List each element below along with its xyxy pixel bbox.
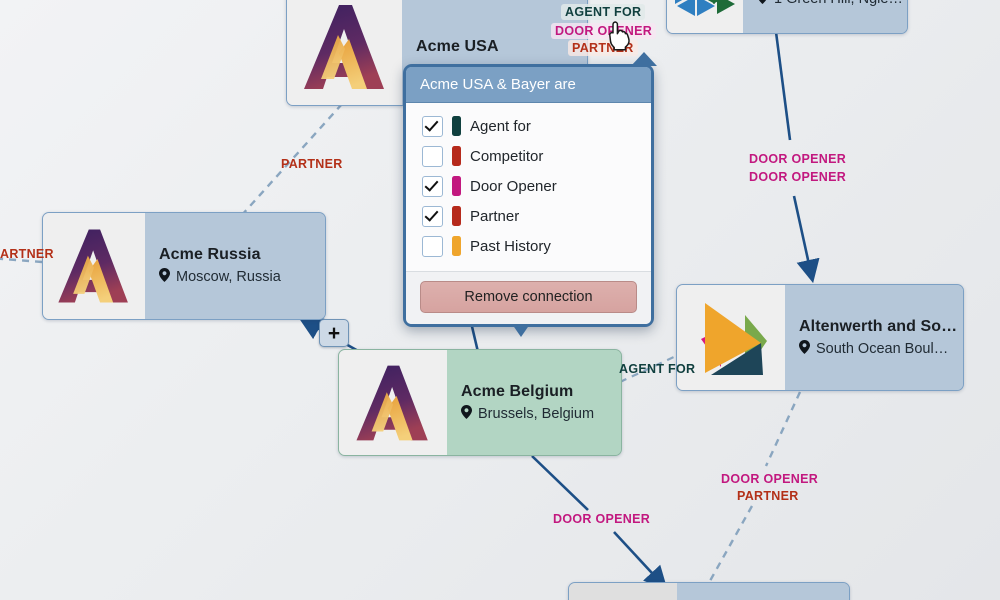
- acme-a-monogram-icon: [54, 222, 134, 310]
- acme-usa-name: Acme USA: [416, 38, 573, 56]
- option-row-competitor[interactable]: Competitor: [406, 141, 651, 171]
- bayer-info: 1 Green Hill, Ngle…: [743, 0, 908, 33]
- edge-label-agent-for-usa-bayer[interactable]: AGENT FOR: [561, 4, 645, 20]
- edge-label-door-opener-bayer-alt-2[interactable]: DOOR OPENER: [745, 169, 850, 185]
- edge-label-agent-for-belgium-alt[interactable]: AGENT FOR: [615, 361, 699, 377]
- acme-usa-logo: [287, 0, 402, 105]
- option-label-past-history: Past History: [470, 238, 551, 255]
- acme-a-monogram-icon: [352, 358, 434, 448]
- acme-russia-location: Moscow, Russia: [159, 268, 311, 286]
- acme-russia-logo: [43, 213, 145, 319]
- altenwerth-name: Altenwerth and So…: [799, 318, 957, 336]
- option-row-partner[interactable]: Partner: [406, 201, 651, 231]
- mouse-cursor-pointing-hand: [606, 20, 632, 52]
- option-row-agent-for[interactable]: Agent for: [406, 111, 651, 141]
- edge-label-door-opener-belgium-bottom[interactable]: DOOR OPENER: [549, 511, 654, 527]
- edge-label-partner-alt-bottom[interactable]: PARTNER: [733, 488, 803, 504]
- graph-canvas[interactable]: 1 Green Hill, Ngle… Acme USA: [0, 0, 1000, 600]
- acme-belgium-location: Brussels, Belgium: [461, 405, 607, 423]
- edge-label-partner-russia-left[interactable]: ARTNER: [0, 246, 58, 262]
- bottom-node-logo: [569, 583, 677, 600]
- altenwerth-info: Altenwerth and So… South Ocean Boul…: [785, 285, 964, 390]
- node-card-bottom[interactable]: [568, 582, 850, 600]
- location-pin-icon: [799, 340, 810, 358]
- acme-belgium-name: Acme Belgium: [461, 383, 607, 401]
- node-card-acme-belgium[interactable]: Acme Belgium Brussels, Belgium: [338, 349, 622, 456]
- popup-footer: Remove connection: [406, 271, 651, 324]
- color-swatch-agent-for: [452, 116, 461, 136]
- acme-belgium-info: Acme Belgium Brussels, Belgium: [447, 350, 621, 455]
- checkbox-door-opener[interactable]: [422, 176, 443, 197]
- color-swatch-door-opener: [452, 176, 461, 196]
- node-card-bayer[interactable]: 1 Green Hill, Ngle…: [666, 0, 908, 34]
- edge-label-partner-usa-russia[interactable]: PARTNER: [277, 156, 347, 172]
- altenwerth-triangles-icon: [687, 295, 775, 381]
- option-label-competitor: Competitor: [470, 148, 543, 165]
- bayer-triangles-icon: [673, 0, 737, 26]
- checkbox-competitor[interactable]: [422, 146, 443, 167]
- acme-russia-name: Acme Russia: [159, 246, 311, 264]
- option-row-door-opener[interactable]: Door Opener: [406, 171, 651, 201]
- location-pin-icon: [757, 0, 768, 8]
- checkbox-partner[interactable]: [422, 206, 443, 227]
- bayer-location: 1 Green Hill, Ngle…: [757, 0, 903, 8]
- acme-a-monogram-icon: [299, 0, 391, 95]
- color-swatch-past-history: [452, 236, 461, 256]
- popup-pointer-top: [631, 52, 657, 66]
- popup-options-list: Agent for Competitor Door Opener Partner: [406, 103, 651, 271]
- option-row-past-history[interactable]: Past History: [406, 231, 651, 261]
- altenwerth-location-text: South Ocean Boul…: [816, 341, 948, 357]
- edge-label-door-opener-usa-bayer[interactable]: DOOR OPENER: [551, 23, 656, 39]
- acme-belgium-location-text: Brussels, Belgium: [478, 406, 594, 422]
- option-label-partner: Partner: [470, 208, 519, 225]
- option-label-agent-for: Agent for: [470, 118, 531, 135]
- altenwerth-location: South Ocean Boul…: [799, 340, 957, 358]
- popup-pointer-bottom: [512, 324, 530, 337]
- checkbox-agent-for[interactable]: [422, 116, 443, 137]
- edge-label-door-opener-bayer-alt-1[interactable]: DOOR OPENER: [745, 151, 850, 167]
- edge-altenwerth-bottom[interactable]: [766, 392, 800, 466]
- node-card-acme-russia[interactable]: Acme Russia Moscow, Russia: [42, 212, 326, 320]
- edge-bayer-altenwerth-2[interactable]: [794, 196, 812, 278]
- bayer-logo: [667, 0, 743, 33]
- bayer-location-text: 1 Green Hill, Ngle…: [774, 0, 903, 7]
- edge-label-door-opener-alt-bottom[interactable]: DOOR OPENER: [717, 471, 822, 487]
- option-label-door-opener: Door Opener: [470, 178, 557, 195]
- acme-russia-location-text: Moscow, Russia: [176, 269, 281, 285]
- color-swatch-competitor: [452, 146, 461, 166]
- color-swatch-partner: [452, 206, 461, 226]
- acme-russia-info: Acme Russia Moscow, Russia: [145, 213, 325, 319]
- node-card-altenwerth[interactable]: Altenwerth and So… South Ocean Boul…: [676, 284, 964, 391]
- popup-title: Acme USA & Bayer are: [406, 67, 651, 103]
- connection-popup[interactable]: Acme USA & Bayer are Agent for Competito…: [403, 64, 654, 327]
- checkbox-past-history[interactable]: [422, 236, 443, 257]
- bottom-node-info: [677, 583, 849, 600]
- edge-belgium-bottom[interactable]: [532, 456, 588, 510]
- location-pin-icon: [159, 268, 170, 286]
- acme-belgium-logo: [339, 350, 447, 455]
- add-connection-button[interactable]: +: [319, 319, 349, 347]
- edge-belgium-bottom-2[interactable]: [614, 532, 664, 586]
- location-pin-icon: [461, 405, 472, 423]
- edge-altenwerth-bottom-2[interactable]: [706, 506, 752, 588]
- remove-connection-button[interactable]: Remove connection: [420, 281, 637, 313]
- edge-bayer-altenwerth[interactable]: [776, 32, 790, 140]
